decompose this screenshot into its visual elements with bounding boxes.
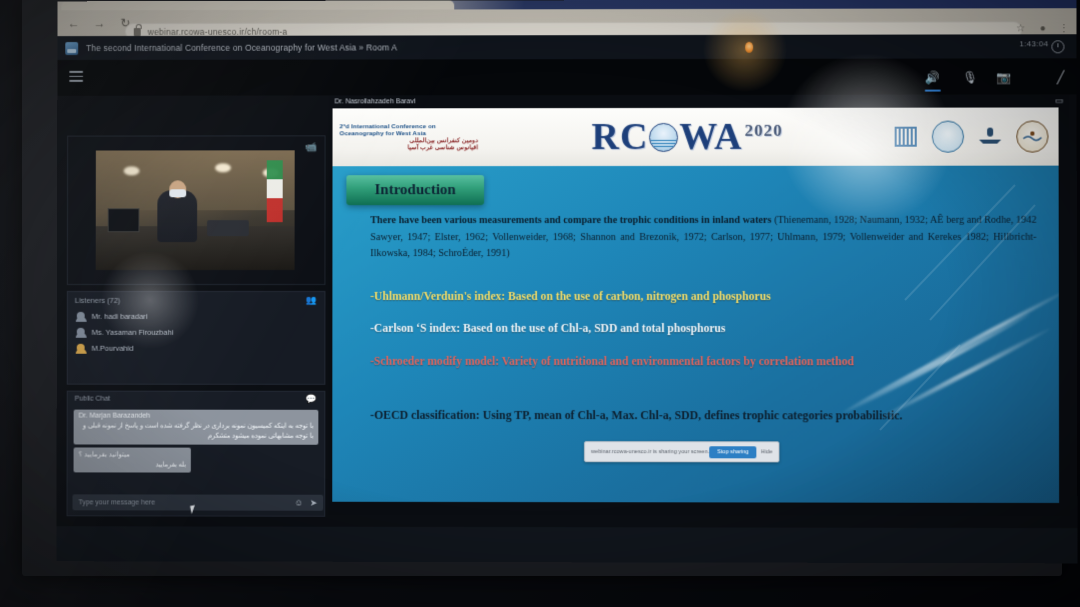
conference-title-fa-2: اقیانوس شناسی غرب آسیا — [339, 144, 484, 151]
minimize-icon[interactable]: ▭ — [1055, 95, 1064, 106]
rcowa-brand-left: RC — [591, 115, 648, 159]
chat-input-placeholder: Type your message here — [78, 499, 155, 506]
webcam-tile[interactable]: 📹 — [67, 135, 326, 285]
send-icon[interactable]: ➤ — [310, 498, 318, 509]
recording-indicator-icon — [745, 42, 753, 53]
microphone-icon[interactable]: 🎙 — [959, 67, 981, 87]
chat-icon: 💬 — [306, 394, 317, 405]
participant-name: Mr. hadi baradari — [92, 311, 148, 320]
chat-message-body: بله بفرمایید — [79, 460, 186, 470]
research-institute-logo-icon — [1016, 121, 1048, 153]
chat-message-body: با توجه به اینکه کمیسیون نمونه برداری در… — [79, 422, 314, 442]
webcam-video — [96, 150, 295, 270]
rcowa-seal-icon — [649, 122, 678, 151]
chat-header: Public Chat 💬 — [68, 392, 325, 407]
participant-name: Ms. Yasaman Firouzbahi — [92, 327, 174, 336]
screen-content: ← → ↻ webinar.rcowa-unesco.ir/ch/room-a … — [57, 0, 1078, 563]
people-icon: 👥 — [306, 294, 317, 305]
list-item[interactable]: M.Pourvahid — [68, 340, 325, 356]
sponsor-logos — [891, 120, 1059, 152]
slide-paragraph: There have been various measurements and… — [370, 213, 1036, 263]
chat-message-author: Dr. Marjan Barazandeh — [79, 413, 314, 420]
chat-title: Public Chat — [75, 396, 111, 403]
laptop-screen-photo: ← → ↻ webinar.rcowa-unesco.ir/ch/room-a … — [0, 0, 1080, 607]
avatar — [77, 344, 85, 352]
app-title-bar: The second International Conference on O… — [57, 34, 1076, 60]
forward-icon[interactable]: → — [90, 14, 109, 33]
webinar-app: The second International Conference on O… — [57, 34, 1078, 528]
participants-count: Listeners (72) — [75, 295, 121, 304]
list-item[interactable]: Mr. hadi baradari — [68, 308, 325, 324]
session-timer: 1:43:04 — [1019, 39, 1048, 48]
screen-share-message: webinar.rcowa-unesco.ir is sharing your … — [585, 449, 709, 455]
emoji-icon[interactable]: ☺ — [294, 498, 303, 508]
screen-share-notification: webinar.rcowa-unesco.ir is sharing your … — [584, 441, 779, 462]
slide-bullet: -Carlson ‘S index: Based on the use of C… — [370, 320, 1039, 339]
chat-message-author: میتوانید بفرمایید ؟ — [79, 450, 186, 458]
presentation-area: Dr. Nasrollahzadeh Baravi ▭ 2ⁿd Internat… — [328, 94, 1070, 516]
avatar — [77, 312, 85, 320]
slide[interactable]: 2ⁿd International Conference on Oceanogr… — [332, 107, 1059, 503]
page-title: The second International Conference on O… — [86, 42, 397, 53]
chat-input[interactable]: Type your message here ☺ ➤ — [72, 494, 323, 510]
audio-icon[interactable]: 🔊 — [922, 68, 944, 88]
slide-bullet: -Uhlmann/Verduin's index: Based on the u… — [370, 288, 1039, 307]
list-item[interactable]: Ms. Yasaman Firouzbahi — [68, 324, 325, 340]
participants-panel: Listeners (72) 👥 Mr. hadi baradari Ms. Y… — [67, 291, 326, 385]
webcam-camera-icon: 📹 — [305, 142, 317, 153]
camera-icon[interactable]: 📷 — [993, 67, 1015, 87]
rcowa-brand-right: WA — [679, 115, 742, 159]
left-panel: 📹 Listeners (72) 👥 Mr. hadi baradari Ms.… — [67, 95, 324, 514]
chat-panel: Public Chat 💬 Dr. Marjan Barazandeh با ت… — [67, 391, 326, 517]
clock-icon — [1051, 40, 1064, 53]
browser-toolbar: ← → ↻ webinar.rcowa-unesco.ir/ch/room-a … — [57, 8, 1076, 36]
pencil-icon[interactable]: ╱ — [1049, 67, 1071, 87]
conference-branding: 2ⁿd International Conference on Oceanogr… — [333, 123, 485, 152]
stop-sharing-button[interactable]: Stop sharing — [709, 446, 757, 458]
slide-paragraph-lead: There have been various measurements and… — [370, 215, 771, 226]
participant-name: M.Pourvahid — [92, 343, 134, 352]
presenter-bar: Dr. Nasrollahzadeh Baravi ▭ — [329, 94, 1070, 107]
rcowa-logo: RC WA 2020 — [484, 115, 891, 159]
marine-institute-logo-icon — [975, 122, 1005, 152]
menu-icon[interactable] — [69, 71, 83, 83]
chat-message: میتوانید بفرمایید ؟ بله بفرمایید — [74, 447, 191, 473]
slide-header: 2ⁿd International Conference on Oceanogr… — [333, 107, 1059, 166]
hide-button[interactable]: Hide — [761, 449, 773, 455]
slide-section-title: Introduction — [375, 182, 456, 199]
unesco-logo-icon — [891, 122, 921, 152]
app-toolbar: 🔊 🎙 📷 ╱ ⛶ — [57, 58, 1076, 96]
back-icon[interactable]: ← — [64, 14, 83, 33]
chat-message: Dr. Marjan Barazandeh با توجه به اینکه ک… — [74, 410, 319, 445]
lock-icon — [134, 28, 141, 36]
slide-bullet: -OECD classification: Using TP, mean of … — [370, 406, 1040, 426]
slide-section-tab: Introduction — [346, 175, 484, 205]
rcowa-institute-logo-icon — [932, 121, 964, 153]
participants-header: Listeners (72) 👥 — [68, 292, 325, 308]
avatar — [77, 328, 85, 336]
rcowa-year: 2020 — [745, 121, 783, 141]
app-logo-icon — [65, 42, 78, 55]
presenter-name: Dr. Nasrollahzadeh Baravi — [335, 98, 416, 105]
